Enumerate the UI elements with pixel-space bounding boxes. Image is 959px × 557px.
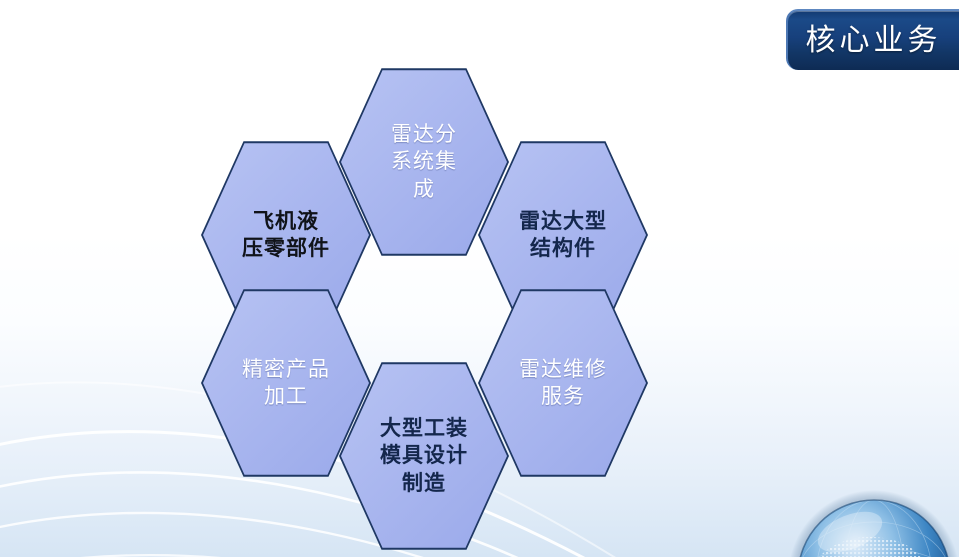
hex-label: 大型工装模具设计制造 [362,415,486,497]
hex-label: 雷达大型结构件 [501,208,625,263]
core-business-honeycomb-diagram: 雷达分系统集成 飞机液压零部件 雷达大型结构件 精密产品加工 雷达维修服务 [0,0,959,557]
hex-fill: 大型工装模具设计制造 [341,362,507,550]
hex-label: 雷达分系统集成 [372,121,476,203]
hex-label: 飞机液压零部件 [224,208,348,263]
page-title: 核心业务 [806,26,942,56]
hex-large-tooling-mold-design-manufacturing[interactable]: 大型工装模具设计制造 [339,360,509,552]
hex-label: 雷达维修服务 [501,356,625,411]
slide-title-banner: 核心业务 [786,9,959,70]
slide-canvas: 雷达分系统集成 飞机液压零部件 雷达大型结构件 精密产品加工 雷达维修服务 [0,0,959,557]
hex-label: 精密产品加工 [224,356,348,411]
